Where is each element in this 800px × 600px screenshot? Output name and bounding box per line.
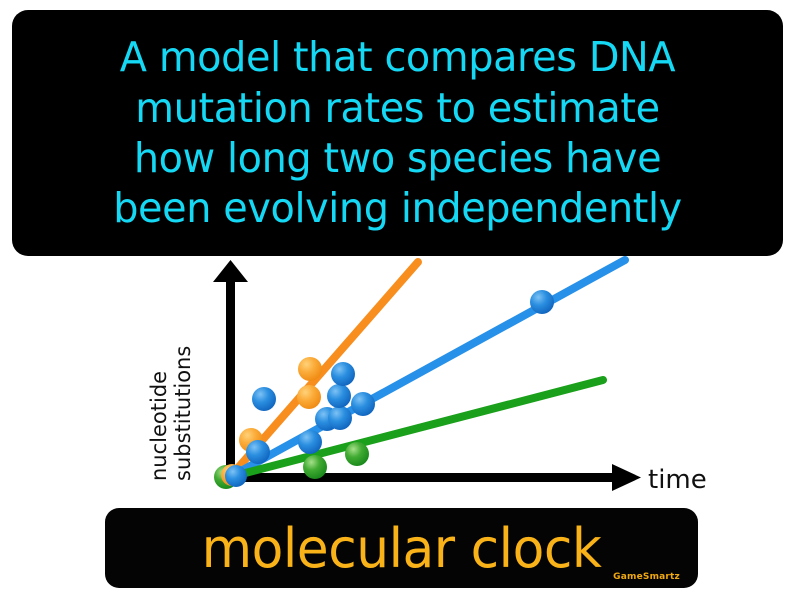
definition-line-2: mutation rates to estimate xyxy=(29,83,765,133)
y-axis-line xyxy=(226,278,235,478)
watermark-label: GameSmartz xyxy=(613,572,680,582)
x-axis-label: time xyxy=(648,465,707,495)
definition-line-1: A model that compares DNA xyxy=(29,32,765,82)
x-axis-arrowhead xyxy=(612,464,641,491)
chart-axes xyxy=(213,260,641,491)
data-point xyxy=(328,406,352,430)
data-point xyxy=(246,440,270,464)
data-point xyxy=(345,442,369,466)
definition-line-4: been evolving independently xyxy=(29,183,765,233)
data-point xyxy=(351,392,375,416)
y-axis-arrowhead xyxy=(213,260,248,282)
definition-text: A model that compares DNA mutation rates… xyxy=(24,32,772,234)
term-card: molecular clock GameSmartz xyxy=(105,508,698,588)
y-axis-label: nucleotide substitutions xyxy=(147,346,195,481)
trend-line-green xyxy=(230,380,603,477)
y-axis-label-line-2: substitutions xyxy=(171,346,195,481)
definition-line-3: how long two species have xyxy=(29,133,765,183)
data-point xyxy=(298,430,322,454)
term-title: molecular clock xyxy=(117,508,686,588)
data-point xyxy=(225,465,247,487)
trend-lines xyxy=(230,260,625,477)
x-axis-line xyxy=(226,473,616,482)
data-point xyxy=(530,290,554,314)
definition-card: A model that compares DNA mutation rates… xyxy=(12,10,783,256)
data-point xyxy=(297,385,321,409)
data-point xyxy=(331,362,355,386)
data-point xyxy=(298,357,322,381)
chart-illustration: nucleotide substitutions time xyxy=(0,256,800,508)
y-axis-label-line-1: nucleotide xyxy=(147,371,171,481)
molecular-clock-scatter-chart: nucleotide substitutions time xyxy=(0,256,800,508)
data-point xyxy=(303,455,327,479)
data-point xyxy=(252,387,276,411)
trend-line-blue xyxy=(230,260,625,477)
data-point xyxy=(327,384,351,408)
